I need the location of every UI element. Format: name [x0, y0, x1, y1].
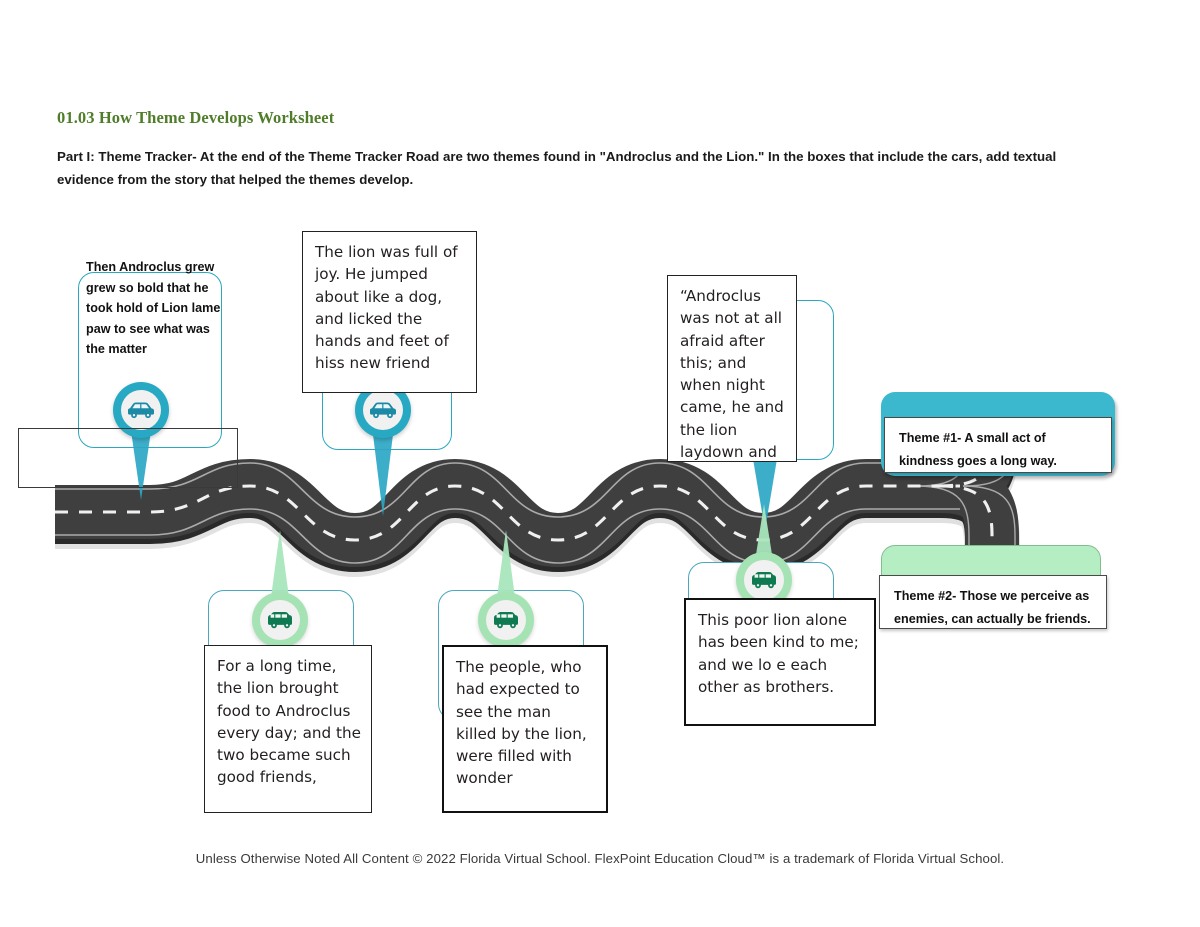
evidence-text-6[interactable]: This poor lion alone has been kind to me… [684, 598, 876, 726]
road-marker-5[interactable] [478, 592, 534, 648]
theme-2-box[interactable]: Theme #2- Those we perceive as enemies, … [879, 575, 1107, 629]
evidence-text-2[interactable]: The lion was full of joy. He jumped abou… [302, 231, 477, 393]
evidence-text-4[interactable]: For a long time, the lion brought food t… [204, 645, 372, 813]
suv-icon [486, 600, 526, 640]
worksheet-page: 01.03 How Theme Develops Worksheet Part … [0, 0, 1200, 927]
theme-1-box[interactable]: Theme #1- A small act of kindness goes a… [884, 417, 1112, 473]
evidence-text-1[interactable]: Then Androclus grew grew so bold that he… [86, 257, 226, 360]
evidence-text-5[interactable]: The people, who had expected to see the … [442, 645, 608, 813]
evidence-text-3[interactable]: “Androclus was not at all afraid after t… [667, 275, 797, 462]
road-marker-4[interactable] [252, 592, 308, 648]
copyright-footer: Unless Otherwise Noted All Content © 202… [0, 851, 1200, 866]
suv-icon [260, 600, 300, 640]
road-marker-2[interactable] [355, 382, 411, 502]
car-icon [363, 390, 403, 430]
car-icon [121, 390, 161, 430]
empty-answer-box[interactable] [18, 428, 238, 488]
suv-icon [744, 560, 784, 600]
